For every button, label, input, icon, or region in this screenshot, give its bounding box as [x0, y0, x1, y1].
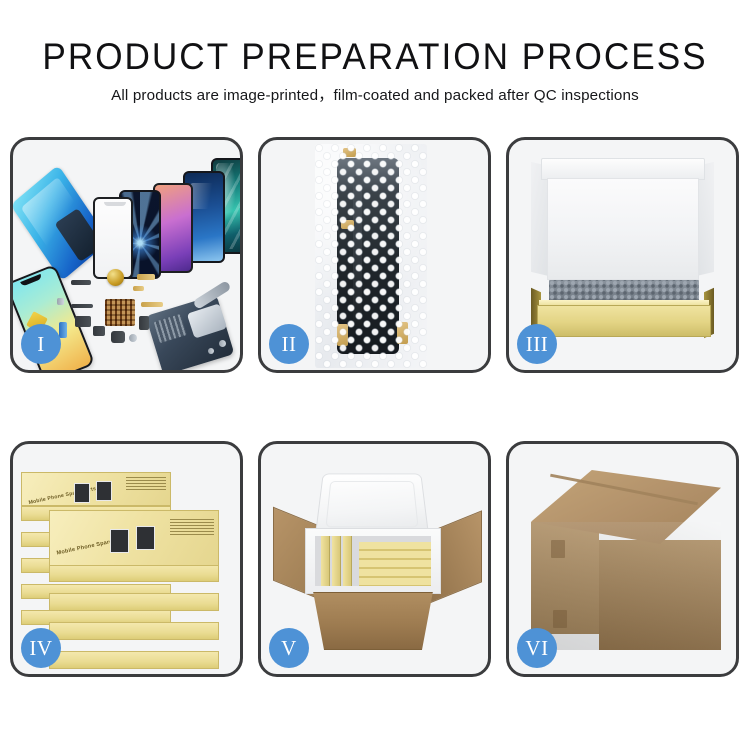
page-subtitle: All products are image-printed，film-coat… — [0, 87, 750, 105]
box-lid-face — [547, 178, 699, 280]
box-slab-f1 — [49, 564, 219, 582]
small-part-5 — [71, 304, 93, 308]
process-step-panel-ii[interactable]: II — [258, 137, 491, 373]
small-part-10 — [111, 331, 125, 343]
process-step-panel-vi[interactable]: VI — [506, 441, 739, 677]
bubble-texture-highlight — [315, 144, 427, 368]
process-step-panel-v[interactable]: V — [258, 441, 491, 677]
small-part-1 — [71, 280, 91, 285]
step-badge-iii: III — [517, 324, 557, 364]
box-spec-lines-back — [126, 477, 166, 492]
process-step-panel-iv[interactable]: Mobile Phone Spare Parts Mobile Phone Sp… — [10, 441, 243, 677]
retail-boxes-stacked-flat — [359, 542, 431, 586]
small-part-8 — [93, 326, 105, 336]
foam-cavity — [315, 536, 431, 586]
screw-part-1 — [219, 340, 226, 347]
contact-pad-grid-part — [105, 299, 135, 326]
carton-shading — [531, 522, 721, 650]
box-window-back-2 — [96, 481, 112, 501]
tray-front-face — [537, 305, 711, 337]
step-badge-ii: II — [269, 324, 309, 364]
retail-box-upright-2 — [332, 536, 341, 586]
retail-box-upright-3 — [343, 536, 352, 586]
small-part-11 — [141, 302, 163, 307]
box-window-back-1 — [74, 483, 90, 503]
box-lid-back: Mobile Phone Spare Parts — [21, 472, 171, 506]
step-badge-i: I — [21, 324, 61, 364]
process-step-grid: I II III — [10, 137, 740, 677]
screw-part-2 — [208, 348, 214, 354]
header: PRODUCT PREPARATION PROCESS All products… — [0, 0, 750, 105]
box-spec-lines-front — [170, 519, 214, 537]
step-badge-vi: VI — [517, 628, 557, 668]
carton-front-face — [305, 592, 441, 650]
box-window-front-2 — [136, 526, 155, 550]
small-part-12 — [139, 316, 149, 330]
small-part-4 — [57, 298, 64, 305]
process-step-panel-iii[interactable]: III — [506, 137, 739, 373]
page-title: PRODUCT PREPARATION PROCESS — [19, 36, 732, 78]
step-badge-iv: IV — [21, 628, 61, 668]
box-slab-f4 — [49, 651, 219, 669]
box-slab-f2 — [49, 593, 219, 611]
tempered-glass-sheet — [93, 197, 133, 279]
box-window-front-1 — [110, 529, 129, 553]
small-part-6 — [75, 316, 91, 327]
small-part-3 — [133, 286, 144, 291]
box-lid-front: Mobile Phone Spare Parts — [49, 510, 219, 566]
step-badge-v: V — [269, 628, 309, 668]
speaker-coil-part — [107, 269, 124, 286]
box-slab-f3 — [49, 622, 219, 640]
process-step-panel-i[interactable]: I — [10, 137, 243, 373]
small-part-7 — [59, 322, 67, 338]
retail-box-upright-1 — [321, 536, 330, 586]
bubble-wrap-bag — [315, 144, 427, 368]
box-lid-edge — [541, 158, 705, 180]
small-part-13 — [129, 334, 137, 342]
small-part-2 — [137, 274, 155, 280]
